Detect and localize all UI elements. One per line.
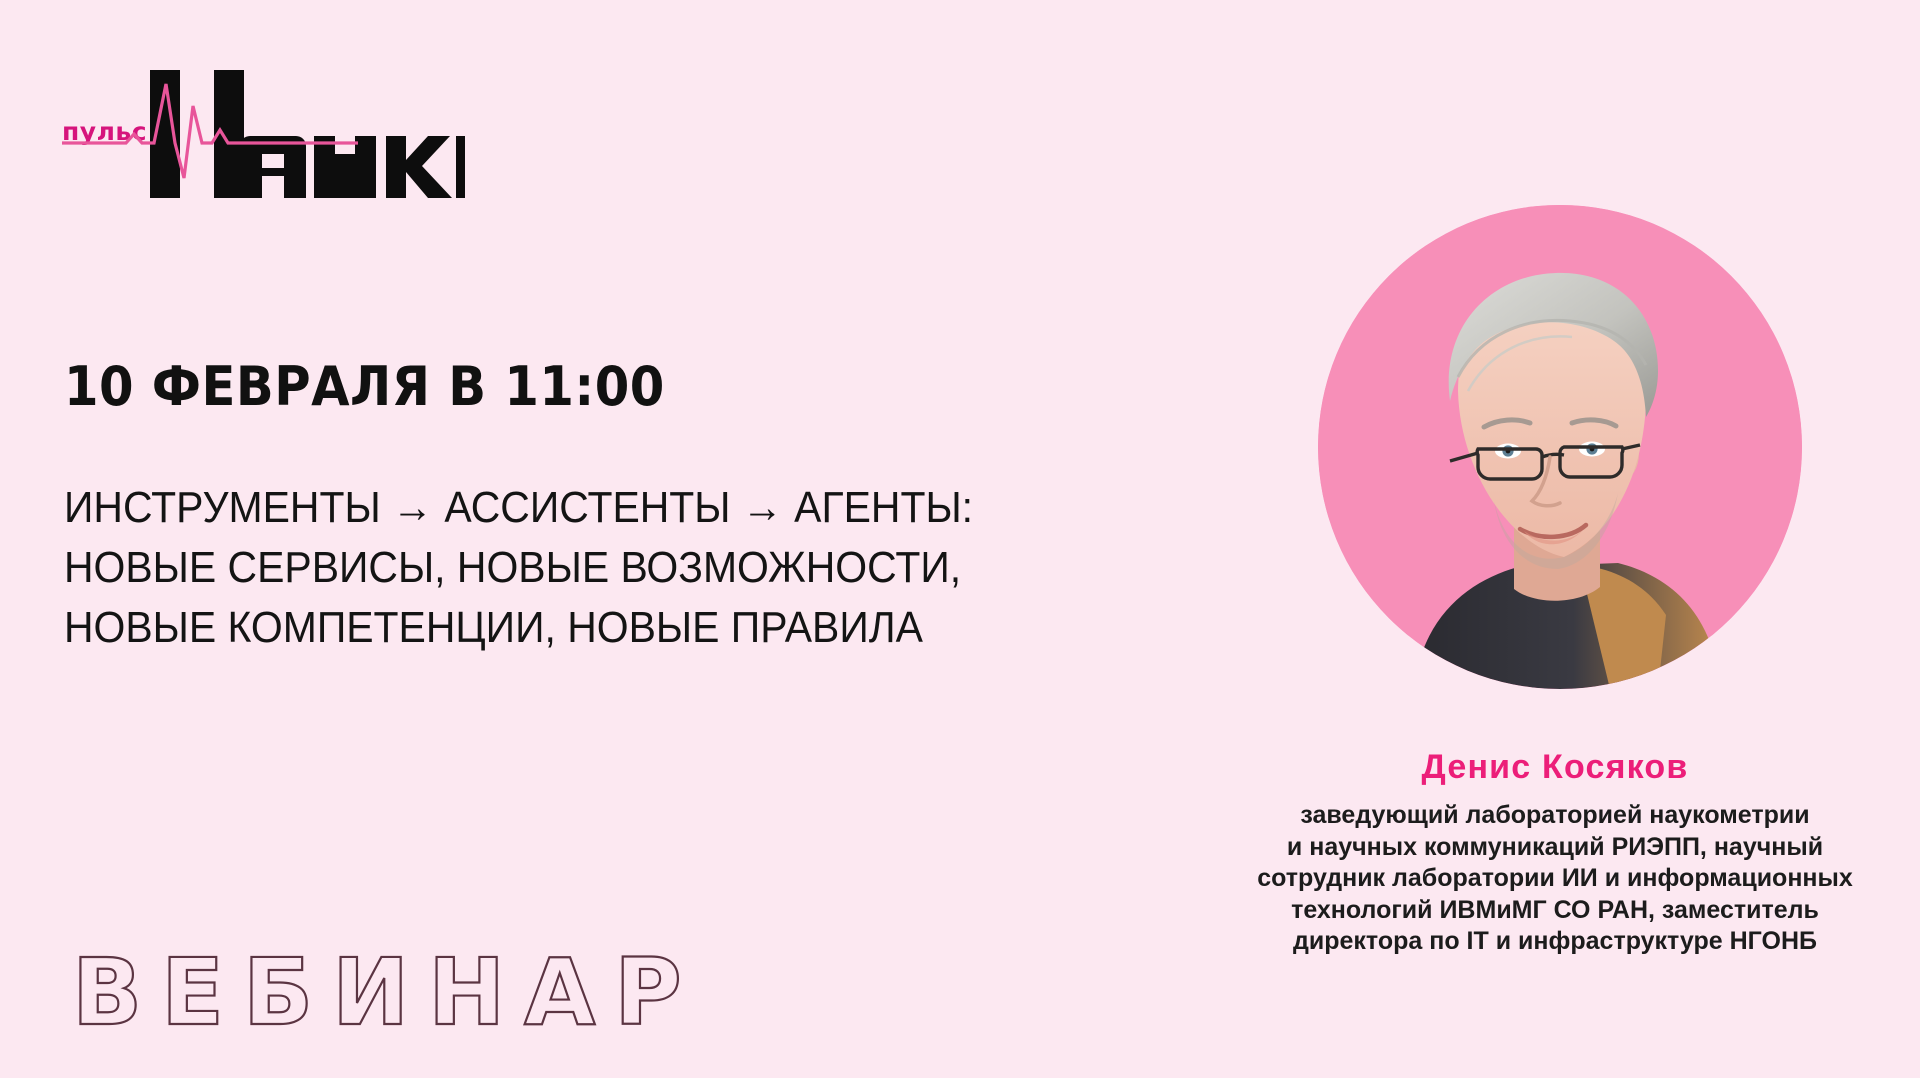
speaker-bio-line-1: заведующий лабораторией наукометрии <box>1190 800 1920 832</box>
event-title: ИНСТРУМЕНТЫ → АССИСТЕНТЫ → АГЕНТЫ: НОВЫЕ… <box>64 478 1244 658</box>
speaker-photo-circle <box>1318 205 1802 689</box>
speaker-bio: заведующий лабораторией наукометрии и на… <box>1190 800 1920 958</box>
speaker-photo <box>1318 205 1802 689</box>
event-title-line-2: НОВЫЕ СЕРВИСЫ, НОВЫЕ ВОЗМОЖНОСТИ, <box>64 538 1161 598</box>
event-title-line-1: ИНСТРУМЕНТЫ → АССИСТЕНТЫ → АГЕНТЫ: <box>64 478 1161 538</box>
speaker-bio-line-5: директора по IT и инфраструктуре НГОНБ <box>1190 926 1920 958</box>
event-title-line-3: НОВЫЕ КОМПЕТЕНЦИИ, НОВЫЕ ПРАВИЛА <box>64 598 1161 658</box>
format-label-text: ВЕБИНАР <box>72 939 701 1046</box>
speaker-bio-line-3: сотрудник лаборатории ИИ и информационны… <box>1190 863 1920 895</box>
speaker-name: Денис Косяков <box>1190 748 1920 787</box>
pulse-nauki-logo: пульс <box>62 48 482 198</box>
speaker-bio-line-4: технологий ИВМиМГ СО РАН, заместитель <box>1190 895 1920 927</box>
portrait-illustration <box>1318 205 1802 689</box>
format-label-webinar: ВЕБИНАР <box>70 938 850 1048</box>
event-datetime: 10 ФЕВРАЛЯ В 11:00 <box>64 355 665 418</box>
webinar-poster: пульс 10 ФЕВРАЛЯ В 11:00 ИНСТРУМЕНТЫ → А… <box>0 0 1920 1078</box>
logo-word-auki <box>240 136 465 198</box>
speaker-bio-line-2: и научных коммуникаций РИЭПП, научный <box>1190 832 1920 864</box>
